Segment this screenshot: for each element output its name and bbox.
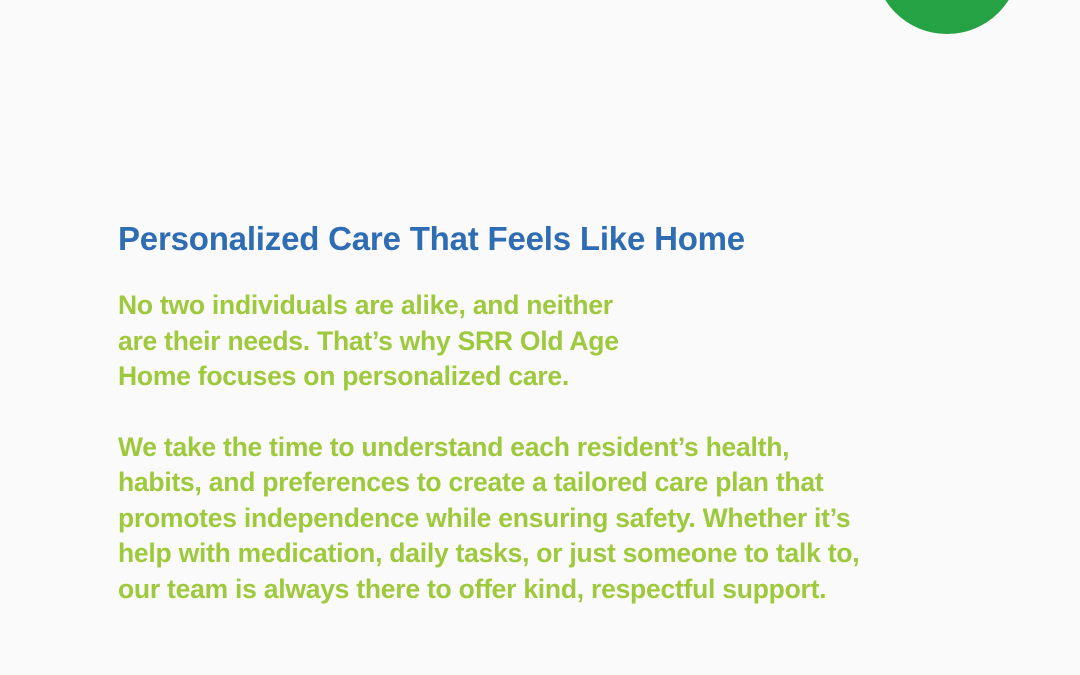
body-paragraph-2: We take the time to understand each resi… xyxy=(118,430,1048,608)
body-paragraph-1: No two individuals are alike, and neithe… xyxy=(118,288,1048,395)
whatsapp-icon xyxy=(905,0,989,3)
page-title: Personalized Care That Feels Like Home xyxy=(118,218,1048,260)
body-copy: No two individuals are alike, and neithe… xyxy=(118,288,1048,607)
whatsapp-float-button[interactable] xyxy=(874,0,1020,34)
page-root: Personalized Care That Feels Like Home N… xyxy=(0,0,1080,675)
content-column: Personalized Care That Feels Like Home N… xyxy=(118,218,1048,607)
